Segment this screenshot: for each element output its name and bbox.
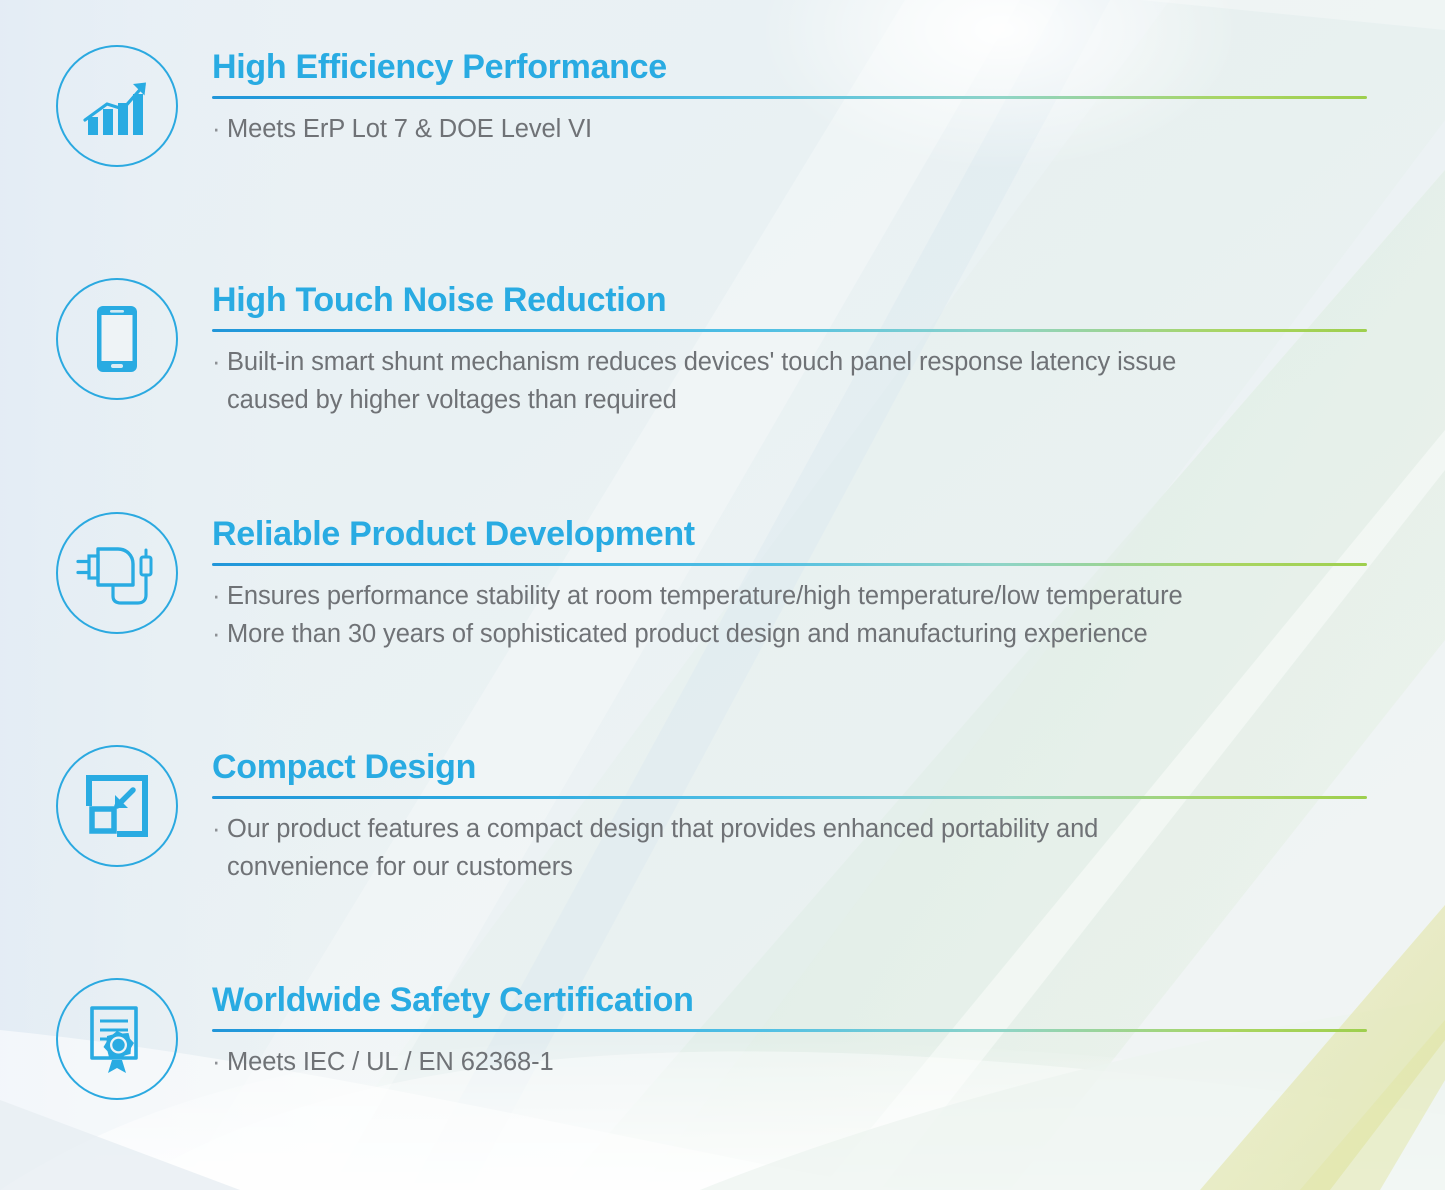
feature-divider bbox=[212, 329, 1367, 332]
icon-circle bbox=[56, 978, 178, 1100]
feature-icon-wrapper bbox=[55, 44, 179, 168]
feature-icon-wrapper bbox=[55, 977, 179, 1101]
feature-bullet-line: ·Meets ErP Lot 7 & DOE Level VI bbox=[212, 110, 1370, 148]
bullet-text: Meets ErP Lot 7 & DOE Level VI bbox=[227, 115, 592, 143]
bullet-marker: · bbox=[212, 1043, 227, 1081]
feature-bullet-line: ·Built-in smart shunt mechanism reduces … bbox=[212, 343, 1370, 381]
feature-bullet-line: ·Our product features a compact design t… bbox=[212, 810, 1370, 848]
feature-bullets: ·Built-in smart shunt mechanism reduces … bbox=[212, 343, 1370, 419]
feature-bullet-line: ·More than 30 years of sophisticated pro… bbox=[212, 615, 1370, 653]
bullet-text: More than 30 years of sophisticated prod… bbox=[227, 620, 1148, 648]
features-list: High Efficiency Performance ·Meets ErP L… bbox=[0, 0, 1445, 1190]
bullet-marker: · bbox=[212, 577, 227, 615]
bullet-marker: · bbox=[212, 110, 227, 148]
feature-divider bbox=[212, 563, 1367, 566]
feature-text: High Touch Noise Reduction ·Built-in sma… bbox=[212, 277, 1370, 419]
feature-bullet-continuation: caused by higher voltages than required bbox=[212, 381, 1370, 419]
feature-bullets: ·Meets IEC / UL / EN 62368-1 bbox=[212, 1043, 1370, 1081]
feature-icon-wrapper bbox=[55, 277, 179, 401]
feature-bullets: ·Our product features a compact design t… bbox=[212, 810, 1370, 886]
bullet-text: Built-in smart shunt mechanism reduces d… bbox=[227, 348, 1176, 376]
certificate-award-icon bbox=[84, 1004, 150, 1074]
bullet-text-continued: caused by higher voltages than required bbox=[212, 381, 1370, 419]
feature-icon-wrapper bbox=[55, 511, 179, 635]
feature-row: High Efficiency Performance ·Meets ErP L… bbox=[0, 44, 1445, 168]
feature-row: Compact Design ·Our product features a c… bbox=[0, 744, 1445, 886]
bullet-text: Ensures performance stability at room te… bbox=[227, 582, 1183, 610]
feature-title: Reliable Product Development bbox=[212, 513, 1370, 555]
feature-text: Compact Design ·Our product features a c… bbox=[212, 744, 1370, 886]
bullet-marker: · bbox=[212, 810, 227, 848]
bullet-text: Our product features a compact design th… bbox=[227, 815, 1098, 843]
feature-title: High Touch Noise Reduction bbox=[212, 279, 1370, 321]
bullet-text-continued: convenience for our customers bbox=[212, 848, 1370, 886]
compact-resize-icon bbox=[86, 775, 148, 837]
feature-title: Compact Design bbox=[212, 746, 1370, 788]
feature-title: High Efficiency Performance bbox=[212, 46, 1370, 88]
feature-bullet-line: ·Meets IEC / UL / EN 62368-1 bbox=[212, 1043, 1370, 1081]
smartphone-icon bbox=[95, 304, 139, 374]
feature-bullet-continuation: convenience for our customers bbox=[212, 848, 1370, 886]
icon-circle bbox=[56, 512, 178, 634]
bullet-marker: · bbox=[212, 615, 227, 653]
feature-bullets: ·Ensures performance stability at room t… bbox=[212, 577, 1370, 653]
feature-title: Worldwide Safety Certification bbox=[212, 979, 1370, 1021]
bar-chart-growth-icon bbox=[81, 73, 153, 139]
feature-icon-wrapper bbox=[55, 744, 179, 868]
feature-divider bbox=[212, 1029, 1367, 1032]
feature-row: Worldwide Safety Certification ·Meets IE… bbox=[0, 977, 1445, 1101]
power-adapter-icon bbox=[76, 539, 158, 607]
bullet-marker: · bbox=[212, 343, 227, 381]
feature-text: Worldwide Safety Certification ·Meets IE… bbox=[212, 977, 1370, 1081]
icon-circle bbox=[56, 745, 178, 867]
feature-divider bbox=[212, 796, 1367, 799]
feature-bullets: ·Meets ErP Lot 7 & DOE Level VI bbox=[212, 110, 1370, 148]
feature-row: High Touch Noise Reduction ·Built-in sma… bbox=[0, 277, 1445, 419]
feature-bullet-line: ·Ensures performance stability at room t… bbox=[212, 577, 1370, 615]
icon-circle bbox=[56, 278, 178, 400]
feature-divider bbox=[212, 96, 1367, 99]
feature-row: Reliable Product Development ·Ensures pe… bbox=[0, 511, 1445, 653]
feature-text: Reliable Product Development ·Ensures pe… bbox=[212, 511, 1370, 653]
feature-text: High Efficiency Performance ·Meets ErP L… bbox=[212, 44, 1370, 148]
icon-circle bbox=[56, 45, 178, 167]
bullet-text: Meets IEC / UL / EN 62368-1 bbox=[227, 1048, 554, 1076]
